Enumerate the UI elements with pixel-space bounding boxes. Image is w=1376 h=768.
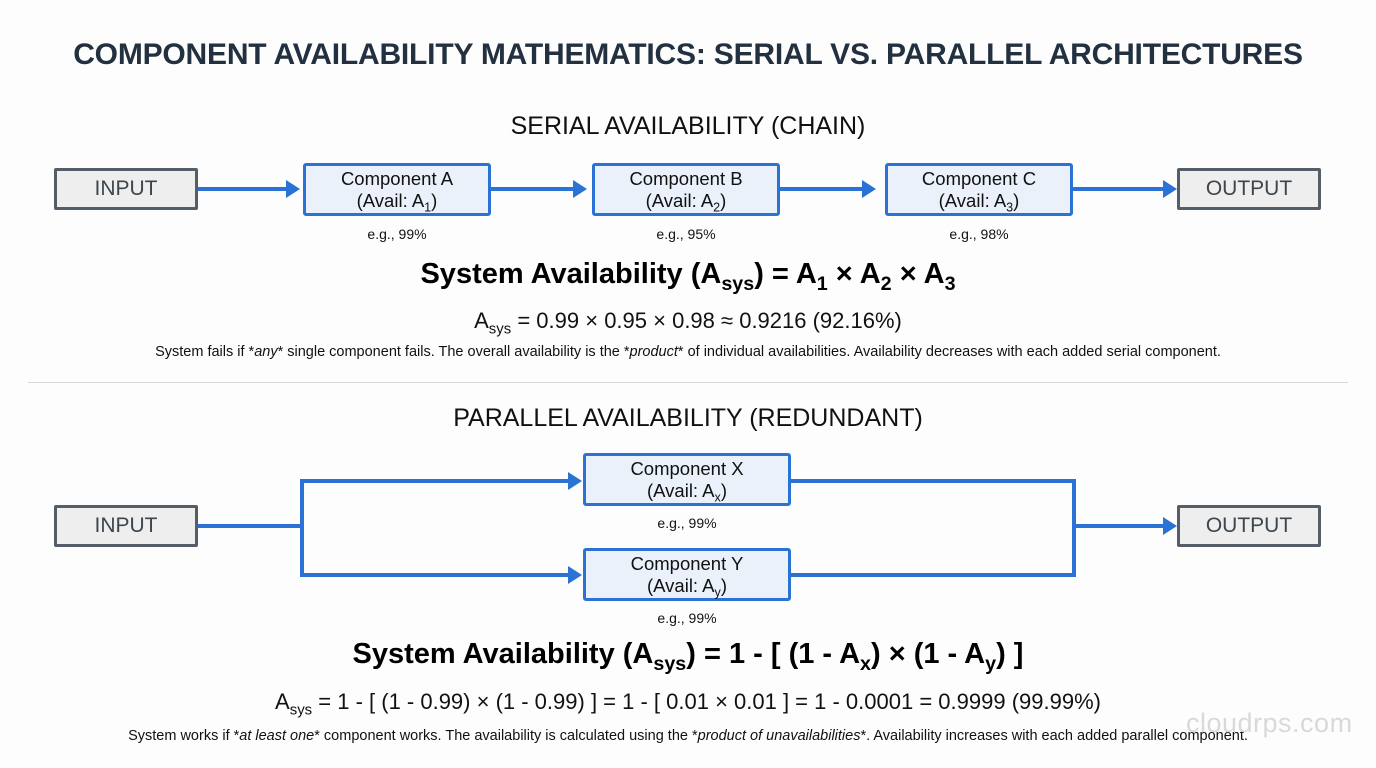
parallel-connector-x-merge: [791, 479, 1076, 483]
parallel-connector-y-merge: [791, 573, 1076, 577]
serial-output-label: OUTPUT: [1206, 177, 1292, 201]
serial-note: System fails if *any* single component f…: [0, 344, 1376, 360]
diagram-canvas: COMPONENT AVAILABILITY MATHEMATICS: SERI…: [0, 0, 1376, 768]
serial-component-box-a: Component A (Avail: A1): [303, 163, 491, 216]
parallel-split-bus: [300, 479, 304, 577]
parallel-arrowhead-split-y: [568, 566, 582, 584]
serial-connector-input-a: [198, 187, 288, 191]
serial-connector-b-c: [780, 187, 864, 191]
parallel-component-x-name: Component X: [630, 458, 743, 480]
serial-arrowhead-a-b: [573, 180, 587, 198]
parallel-note: System works if *at least one* component…: [0, 728, 1376, 744]
serial-component-c-avail: (Avail: A3): [939, 190, 1020, 212]
parallel-arrowhead-split-x: [568, 472, 582, 490]
serial-component-a-name: Component A: [341, 168, 453, 190]
page-title: COMPONENT AVAILABILITY MATHEMATICS: SERI…: [0, 38, 1376, 72]
section-divider: [28, 382, 1348, 383]
parallel-input-box: INPUT: [54, 505, 198, 547]
serial-calculation: Asys = 0.99 × 0.95 × 0.98 ≈ 0.9216 (92.1…: [0, 308, 1376, 334]
serial-input-label: INPUT: [95, 177, 158, 201]
parallel-component-y-avail: (Avail: Ay): [647, 575, 727, 597]
parallel-connector-split-y: [300, 573, 572, 577]
serial-arrowhead-b-c: [862, 180, 876, 198]
serial-input-box: INPUT: [54, 168, 198, 210]
serial-arrowhead-input-a: [286, 180, 300, 198]
parallel-component-y-name: Component Y: [631, 553, 744, 575]
parallel-component-box-x: Component X (Avail: Ax): [583, 453, 791, 506]
serial-section-heading: SERIAL AVAILABILITY (CHAIN): [0, 112, 1376, 141]
serial-connector-a-b: [491, 187, 575, 191]
serial-component-a-example: e.g., 99%: [303, 226, 491, 242]
serial-component-box-c: Component C (Avail: A3): [885, 163, 1073, 216]
parallel-connector-split-x: [300, 479, 572, 483]
parallel-merge-bus: [1072, 479, 1076, 577]
parallel-input-label: INPUT: [95, 514, 158, 538]
parallel-output-box: OUTPUT: [1177, 505, 1321, 547]
serial-component-a-avail: (Avail: A1): [357, 190, 438, 212]
parallel-component-y-example: e.g., 99%: [583, 610, 791, 626]
parallel-output-label: OUTPUT: [1206, 514, 1292, 538]
parallel-connector-merge-output: [1072, 524, 1165, 528]
serial-component-b-avail: (Avail: A2): [646, 190, 727, 212]
parallel-component-x-example: e.g., 99%: [583, 515, 791, 531]
serial-component-c-name: Component C: [922, 168, 1036, 190]
parallel-calculation: Asys = 1 - [ (1 - 0.99) × (1 - 0.99) ] =…: [0, 689, 1376, 715]
serial-component-box-b: Component B (Avail: A2): [592, 163, 780, 216]
parallel-section-heading: PARALLEL AVAILABILITY (REDUNDANT): [0, 404, 1376, 433]
serial-connector-c-output: [1073, 187, 1165, 191]
parallel-component-x-avail: (Avail: Ax): [647, 480, 727, 502]
serial-arrowhead-c-output: [1163, 180, 1177, 198]
serial-output-box: OUTPUT: [1177, 168, 1321, 210]
serial-formula: System Availability (Asys) = A1 × A2 × A…: [0, 258, 1376, 291]
parallel-arrowhead-merge-output: [1163, 517, 1177, 535]
parallel-component-box-y: Component Y (Avail: Ay): [583, 548, 791, 601]
serial-component-b-example: e.g., 95%: [592, 226, 780, 242]
parallel-connector-input-stub: [198, 524, 304, 528]
serial-component-c-example: e.g., 98%: [885, 226, 1073, 242]
serial-component-b-name: Component B: [629, 168, 742, 190]
parallel-formula: System Availability (Asys) = 1 - [ (1 - …: [0, 638, 1376, 671]
